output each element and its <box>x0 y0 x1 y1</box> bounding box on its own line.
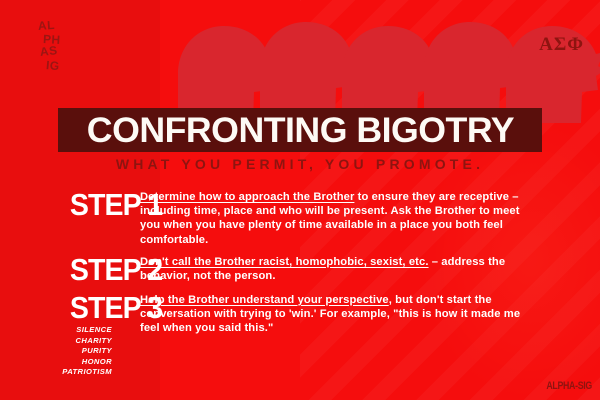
page-title: CONFRONTING BIGOTRY <box>86 113 513 148</box>
step-label-3: STEP 3 <box>0 293 129 323</box>
alpha-sig-stacked-logo: AL PH AS IG <box>38 20 84 72</box>
step-lead-3: Help the Brother understand your perspec… <box>140 294 389 306</box>
value-item-3: PURITY <box>8 346 112 357</box>
greek-letters-alpha-sigma-phi: ΑΣΦ <box>539 34 584 56</box>
footer-signature: ALPHA-SIG <box>546 380 592 392</box>
subtitle-tagline: WHAT YOU PERMIT, YOU PROMOTE. <box>0 156 600 172</box>
step-lead-1: Determine how to approach the Brother <box>140 191 354 203</box>
value-item-5: PATRIOTISM <box>8 367 112 378</box>
step-lead-2: Don't call the Brother racist, homophobi… <box>140 256 429 268</box>
step-body-2: Don't call the Brother racist, homophobi… <box>140 255 600 283</box>
step-item: STEP 2 Don't call the Brother racist, ho… <box>0 255 600 285</box>
logo-line-3: AS <box>39 41 84 59</box>
step-label-1: STEP 1 <box>0 190 129 220</box>
value-item-2: CHARITY <box>8 336 112 347</box>
title-banner: CONFRONTING BIGOTRY <box>58 108 542 152</box>
step-item: STEP 1 Determine how to approach the Bro… <box>0 190 600 247</box>
step-label-2: STEP 2 <box>0 255 129 285</box>
step-body-1: Determine how to approach the Brother to… <box>140 190 600 247</box>
step-body-3: Help the Brother understand your perspec… <box>140 293 600 336</box>
value-item-1: SILENCE <box>8 325 112 336</box>
poster-canvas: AL PH AS IG ΑΣΦ CONFRONTING BIGOTRY WHAT… <box>0 0 600 400</box>
steps-list: STEP 1 Determine how to approach the Bro… <box>0 190 600 343</box>
head-silhouettes-graphic <box>120 8 600 123</box>
value-item-4: HONOR <box>8 357 112 368</box>
logo-line-1: AL <box>38 17 85 33</box>
fraternity-values-list: SILENCE CHARITY PURITY HONOR PATRIOTISM <box>8 325 112 378</box>
